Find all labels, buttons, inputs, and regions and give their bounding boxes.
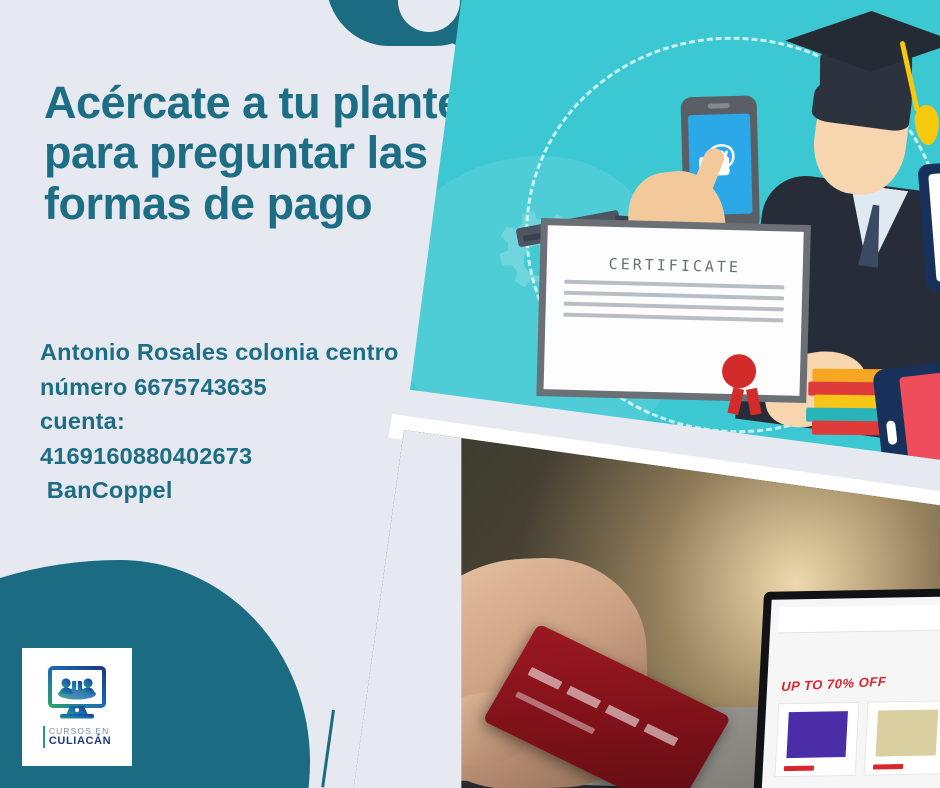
tablet-screen xyxy=(928,169,940,282)
card-number-group xyxy=(605,705,640,728)
tablet-home-button xyxy=(886,420,898,445)
product-tile xyxy=(864,700,940,775)
page-title: Acércate a tu plantel para preguntar las… xyxy=(44,78,474,229)
product-thumb xyxy=(786,711,848,758)
certificate-rule xyxy=(564,280,784,290)
illustration-panel: @ CERTIFICATE xyxy=(410,0,940,463)
card-number-group xyxy=(643,724,678,747)
product-price xyxy=(873,764,903,770)
certificate-title: CERTIFICATE xyxy=(565,254,785,278)
laptop-screen: UP TO 70% OFF xyxy=(747,587,940,788)
decorative-diagonal-line-bottom xyxy=(321,710,335,788)
certificate-icon: CERTIFICATE xyxy=(536,218,811,403)
certificate-rule xyxy=(564,302,784,312)
promotional-poster: Acércate a tu plantel para preguntar las… xyxy=(0,0,940,788)
website-navbar xyxy=(778,603,940,634)
product-price xyxy=(784,766,814,772)
tablet-screen xyxy=(899,370,940,463)
logo-line-2: CULIACÁN xyxy=(49,736,111,748)
certificate-rule xyxy=(564,291,784,301)
shopping-website: UP TO 70% OFF xyxy=(755,595,940,788)
phone-speaker xyxy=(708,103,730,109)
brand-logo-card: CURSOS EN CULIACÁN xyxy=(22,648,132,766)
card-number-group xyxy=(566,686,601,709)
promo-banner-text: UP TO 70% OFF xyxy=(781,674,886,694)
product-thumb xyxy=(876,710,938,757)
certificate-seal-icon xyxy=(722,354,757,389)
certificate-rule xyxy=(563,313,783,323)
card-number-group xyxy=(527,667,562,690)
logo-accent-bar xyxy=(43,726,45,748)
monitor-people-icon xyxy=(46,666,108,722)
logo-wordmark: CURSOS EN CULIACÁN xyxy=(43,726,111,748)
product-tile xyxy=(774,702,859,777)
tablet-device-bottom xyxy=(872,359,940,463)
product-grid xyxy=(774,699,940,777)
